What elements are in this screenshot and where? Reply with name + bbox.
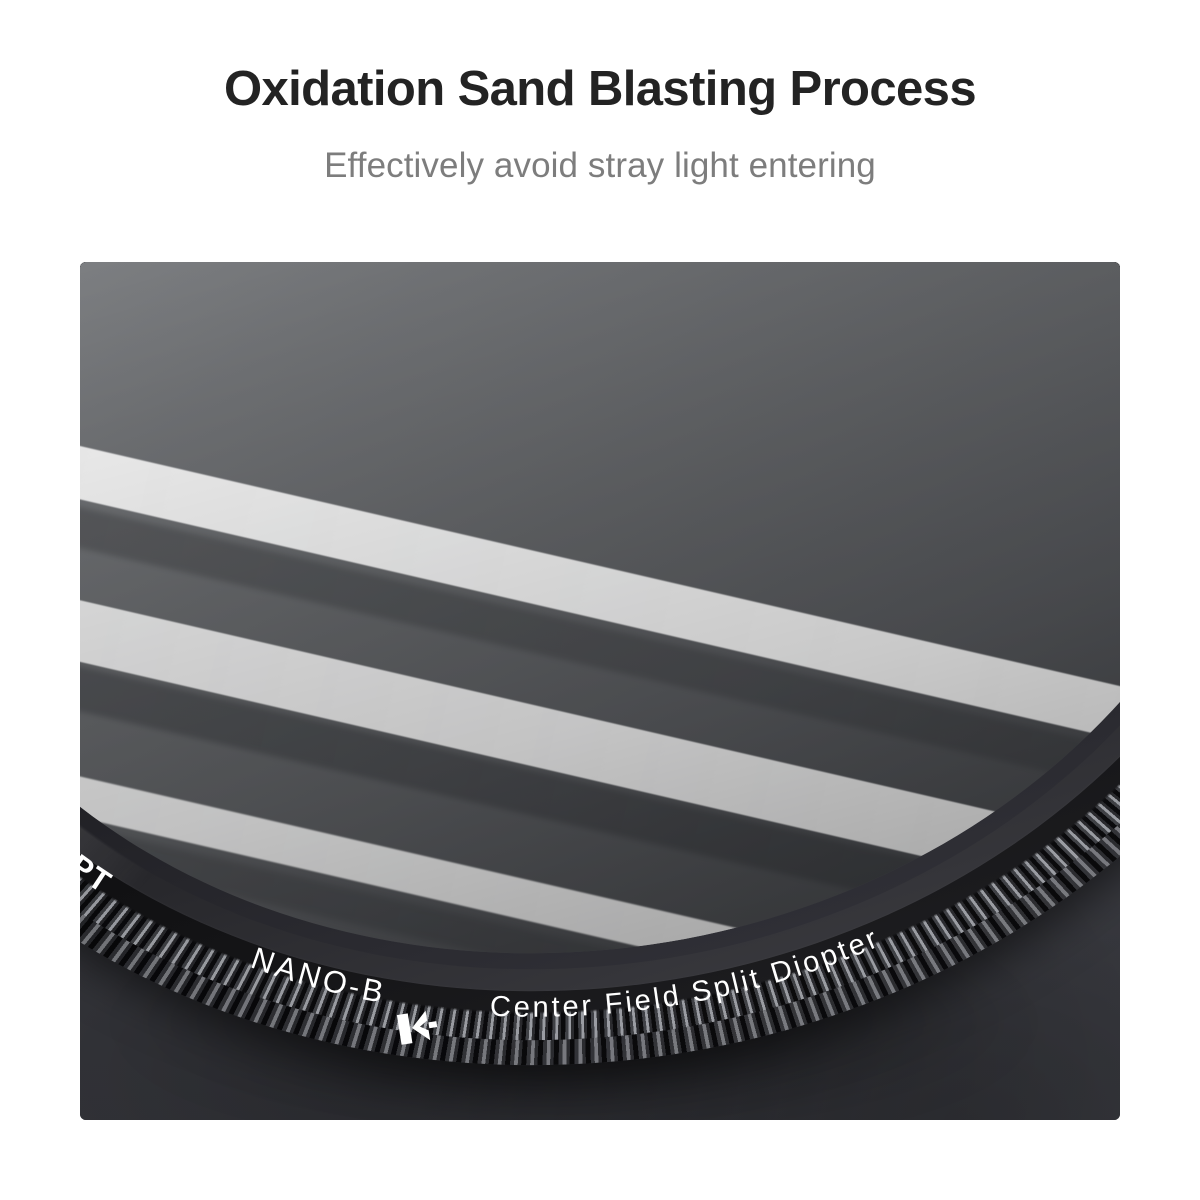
lens-filter-assembly: K&F CONCEPT NANO-B Center Field Split Di… bbox=[80, 262, 1120, 1120]
heading-block: Oxidation Sand Blasting Process Effectiv… bbox=[0, 0, 1200, 187]
product-feature-page: Oxidation Sand Blasting Process Effectiv… bbox=[0, 0, 1200, 1200]
page-title: Oxidation Sand Blasting Process bbox=[0, 62, 1200, 117]
kf-concept-logo-icon bbox=[396, 1007, 441, 1047]
page-subtitle: Effectively avoid stray light entering bbox=[0, 145, 1200, 187]
product-photo: K&F CONCEPT NANO-B Center Field Split Di… bbox=[80, 262, 1120, 1120]
